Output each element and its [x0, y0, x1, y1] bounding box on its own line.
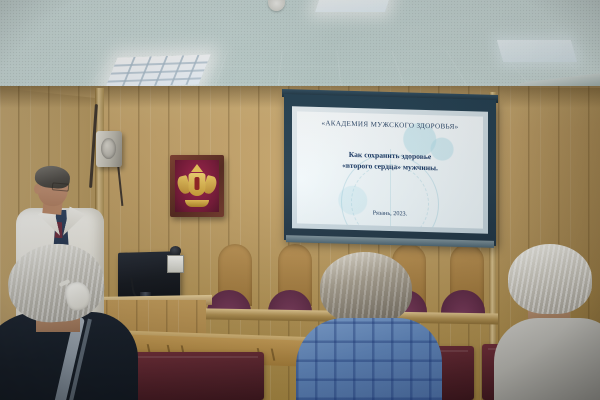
- coat-of-arms-icon: [175, 160, 219, 212]
- bench-seat-back: [128, 352, 264, 400]
- presenter-ear: [34, 184, 41, 194]
- projector-screen-icon: «АКАДЕМИЯ МУЖСКОГО ЗДОРОВЬЯ» Как сохрани…: [284, 94, 496, 246]
- slide-footer: Рязань, 2023.: [373, 210, 407, 218]
- crown-icon: [191, 164, 203, 172]
- slide-body: Как сохранить здоровье «второго сердца» …: [342, 149, 438, 174]
- projector-screen-surface: «АКАДЕМИЯ МУЖСКОГО ЗДОРОВЬЯ» Как сохрани…: [292, 106, 488, 233]
- ceiling-light-panel-icon: [105, 54, 210, 87]
- emblem-base: [185, 200, 209, 207]
- presentation-slide: «АКАДЕМИЯ МУЖСКОГО ЗДОРОВЬЯ» Как сохрани…: [297, 111, 483, 228]
- coat-of-arms-frame: [170, 155, 224, 217]
- shield-icon: [189, 173, 206, 196]
- audience-center-plaid-shirt: [296, 318, 442, 400]
- audience-right-sweater: [494, 318, 600, 400]
- speaker-cone: [101, 138, 116, 159]
- glasses-icon: [52, 182, 70, 191]
- audience-center-hair: [320, 252, 412, 324]
- audience-right-hair: [508, 244, 592, 314]
- lecture-hall-photo: «АКАДЕМИЯ МУЖСКОГО ЗДОРОВЬЯ» Как сохрани…: [0, 0, 600, 400]
- ceiling-light-panel-tertiary-icon: [497, 40, 577, 62]
- slide-title: «АКАДЕМИЯ МУЖСКОГО ЗДОРОВЬЯ»: [321, 119, 458, 131]
- webcam-icon: [170, 246, 181, 255]
- ceiling: [0, 0, 600, 92]
- webcam-mount-card: [167, 255, 184, 273]
- ceiling-light-panel-secondary-icon: [315, 0, 391, 12]
- wall-speaker-icon: [96, 131, 122, 167]
